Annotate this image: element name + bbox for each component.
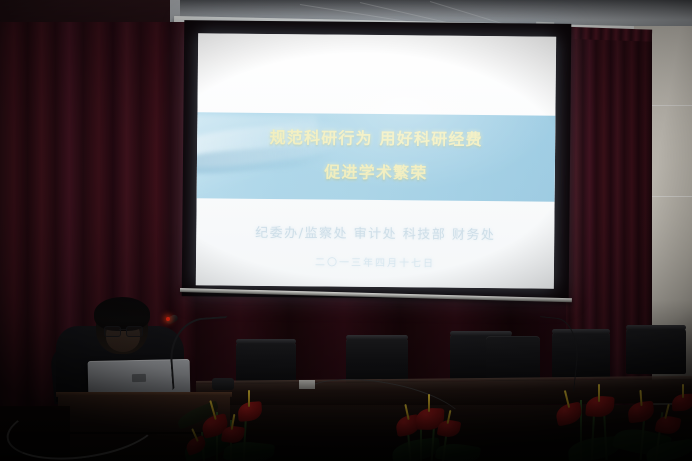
glasses-lens-right <box>126 326 143 337</box>
microphone-led-indicator <box>166 317 170 321</box>
glasses-lens-left <box>104 326 121 337</box>
table-item-white-box <box>299 380 315 389</box>
glasses-icon <box>104 326 142 335</box>
chair-headrest <box>346 335 408 340</box>
slide-subtitle-date: 二〇一三年四月十七日 <box>196 252 554 270</box>
projection-screen-surface: 规范科研行为 用好科研经费 促进学术繁荣 纪委办/监察处 审计处 科技部 财务处… <box>196 33 556 288</box>
presentation-slide: 规范科研行为 用好科研经费 促进学术繁荣 纪委办/监察处 审计处 科技部 财务处… <box>196 33 556 288</box>
conference-hall-photo: 规范科研行为 用好科研经费 促进学术繁荣 纪委办/监察处 审计处 科技部 财务处… <box>0 0 692 461</box>
slide-title-line-1: 规范科研行为 用好科研经费 <box>197 123 555 150</box>
flower-cluster-left <box>190 392 330 461</box>
slide-subtitle-departments: 纪委办/监察处 审计处 科技部 财务处 <box>196 221 554 243</box>
anthurium-spadix <box>639 390 643 406</box>
flower-cluster-center <box>382 396 522 461</box>
projection-screen: 规范科研行为 用好科研经费 促进学术繁荣 纪委办/监察处 审计处 科技部 财务处… <box>182 20 572 300</box>
glasses-bridge <box>119 329 126 330</box>
chair <box>486 336 540 382</box>
chair <box>346 338 408 384</box>
laptop-logo <box>132 374 146 382</box>
chair-headrest <box>236 339 296 344</box>
slide-title-line-2: 促进学术繁荣 <box>197 157 555 184</box>
flower-cluster-right <box>546 388 692 461</box>
chair-headrest <box>626 325 686 330</box>
chair <box>626 328 686 374</box>
